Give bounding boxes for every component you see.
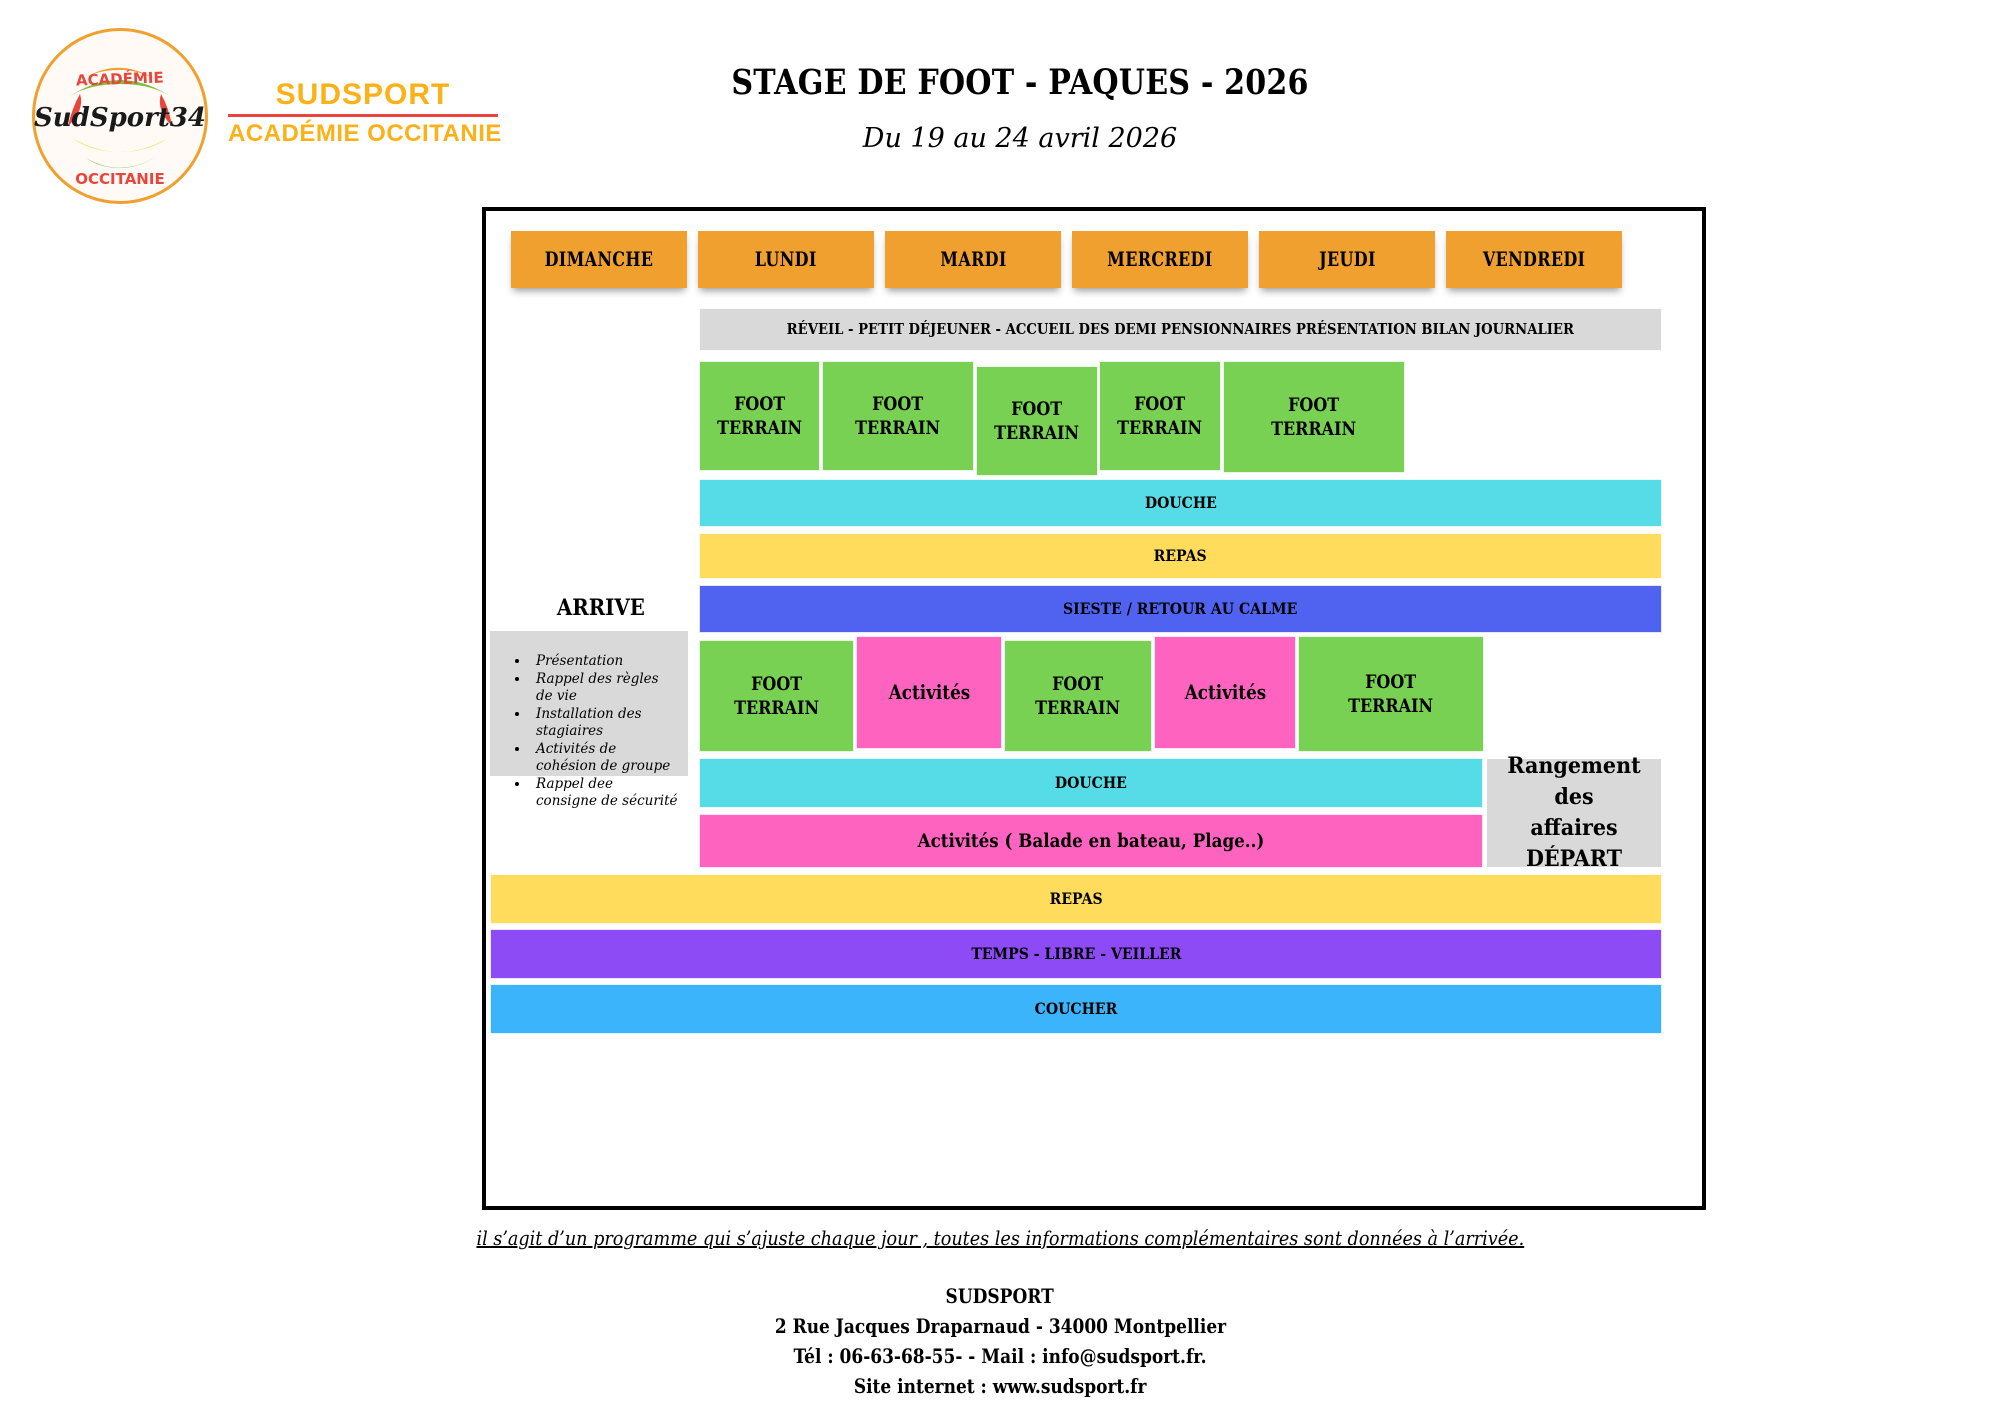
day-header-mercredi: MERCREDI	[1072, 231, 1248, 288]
footer-org-line: SUDSPORT	[400, 1282, 1600, 1312]
brand-name: SUDSPORT	[228, 78, 498, 112]
programme-note-text: il s’agit d’un programme qui s’ajuste ch…	[476, 1226, 1524, 1250]
activity-label: FOOT TERRAIN	[1035, 672, 1120, 721]
arrive-label: ARRIVE	[511, 595, 691, 621]
douche-label: DOUCHE	[1145, 493, 1217, 513]
activites-long-label: Activités ( Balade en bateau, Plage..)	[918, 829, 1265, 853]
row-douche-soir: DOUCHE	[699, 758, 1483, 808]
repas-label: REPAS	[1049, 889, 1102, 909]
footer-website[interactable]: Site internet : www.sudsport.fr	[854, 1372, 1147, 1400]
footer-website-line: Site internet : www.sudsport.fr	[400, 1372, 1600, 1402]
douche-label: DOUCHE	[1055, 773, 1127, 793]
day-label: VENDREDI	[1483, 247, 1586, 273]
sieste-label: SIESTE / RETOUR AU CALME	[1063, 599, 1297, 619]
afternoon-activites-mardi: Activités	[856, 636, 1002, 749]
day-header-mardi: MARDI	[885, 231, 1061, 288]
day-label: MARDI	[940, 247, 1006, 273]
temps-libre-label: TEMPS - LIBRE - VEILLER	[971, 944, 1181, 964]
activity-label: Activités	[1184, 680, 1265, 706]
sudsport34-logo-icon: ACADÉMIE SudSport34 OCCITANIE	[30, 26, 210, 206]
rangement-label: Rangement des affaires DÉPART	[1492, 751, 1656, 876]
coucher-label: COUCHER	[1035, 999, 1118, 1019]
contact-footer: SUDSPORT 2 Rue Jacques Draparnaud - 3400…	[400, 1282, 1600, 1402]
arrivee-details-box: Présentation Rappel des règles de vie In…	[490, 631, 688, 776]
morning-foot-terrain-mardi: FOOT TERRAIN	[822, 361, 974, 471]
activity-label: FOOT TERRAIN	[717, 392, 802, 441]
day-header-jeudi: JEUDI	[1259, 231, 1435, 288]
row-repas-midi: REPAS	[699, 533, 1662, 579]
morning-foot-terrain-jeudi: FOOT TERRAIN	[1099, 361, 1221, 471]
programme-note: il s’agit d’un programme qui s’ajuste ch…	[300, 1226, 1700, 1250]
logo-center-text: SudSport34	[34, 103, 206, 133]
footer-contact-line: Tél : 06-63-68-55- - Mail : info@sudspor…	[400, 1342, 1600, 1372]
repas-label: REPAS	[1154, 546, 1207, 566]
brand-divider	[228, 114, 498, 117]
page-title: STAGE DE FOOT - PAQUES - 2026	[573, 60, 1467, 106]
afternoon-activites-jeudi: Activités	[1154, 636, 1296, 749]
row-coucher: COUCHER	[490, 984, 1662, 1034]
afternoon-foot-terrain-vendredi: FOOT TERRAIN	[1298, 636, 1484, 752]
row-sieste: SIESTE / RETOUR AU CALME	[699, 585, 1662, 633]
title-block: STAGE DE FOOT - PAQUES - 2026 Du 19 au 2…	[500, 60, 1540, 156]
activity-label: FOOT TERRAIN	[855, 392, 940, 441]
day-label: MERCREDI	[1107, 247, 1212, 273]
afternoon-foot-terrain-lundi: FOOT TERRAIN	[699, 640, 854, 752]
footer-org: SUDSPORT	[946, 1282, 1054, 1310]
day-label: DIMANCHE	[545, 247, 654, 273]
day-label: LUNDI	[755, 247, 817, 273]
arrivee-bullet-list: Présentation Rappel des règles de vie In…	[500, 653, 678, 810]
list-item: Installation des stagiaires	[530, 706, 678, 740]
page-header: ACADÉMIE SudSport34 OCCITANIE SUDSPORT A…	[0, 0, 2000, 200]
schedule-frame: DIMANCHE LUNDI MARDI MERCREDI JEUDI VEND…	[482, 207, 1706, 1210]
activity-label: FOOT TERRAIN	[994, 397, 1079, 446]
morning-foot-terrain-mercredi: FOOT TERRAIN	[976, 366, 1098, 476]
row-activites-sortie: Activités ( Balade en bateau, Plage..)	[699, 814, 1483, 868]
activity-label: FOOT TERRAIN	[734, 672, 819, 721]
footer-address: 2 Rue Jacques Draparnaud - 34000 Montpel…	[774, 1312, 1225, 1340]
brand-block: SUDSPORT ACADÉMIE OCCITANIE	[228, 78, 498, 148]
morning-foot-terrain-vendredi: FOOT TERRAIN	[1223, 361, 1405, 473]
activity-label: Activités	[888, 680, 969, 706]
activity-label: FOOT TERRAIN	[1117, 392, 1202, 441]
list-item: Présentation	[530, 653, 678, 670]
day-label: JEUDI	[1319, 247, 1376, 273]
morning-foot-terrain-lundi: FOOT TERRAIN	[699, 361, 820, 471]
day-header-lundi: LUNDI	[698, 231, 874, 288]
page-subtitle: Du 19 au 24 avril 2026	[500, 122, 1540, 156]
brand-subtitle: ACADÉMIE OCCITANIE	[228, 120, 498, 148]
afternoon-foot-terrain-mercredi: FOOT TERRAIN	[1004, 640, 1152, 752]
footer-address-line: 2 Rue Jacques Draparnaud - 34000 Montpel…	[400, 1312, 1600, 1342]
logo-top-text: ACADÉMIE	[76, 67, 164, 89]
list-item: Rappel des règles de vie	[530, 671, 678, 705]
row-reveil-banner: RÉVEIL - PETIT DÉJEUNER - ACCUEIL DES DE…	[699, 308, 1662, 351]
reveil-banner-label: RÉVEIL - PETIT DÉJEUNER - ACCUEIL DES DE…	[787, 320, 1574, 339]
arrive-text: ARRIVE	[557, 595, 645, 621]
day-header-dimanche: DIMANCHE	[511, 231, 687, 288]
list-item: Activités de cohésion de groupe	[530, 741, 678, 775]
logo-bottom-text: OCCITANIE	[75, 170, 164, 188]
day-header-vendredi: VENDREDI	[1446, 231, 1622, 288]
row-douche-matin: DOUCHE	[699, 479, 1662, 527]
row-repas-soir: REPAS	[490, 874, 1662, 924]
activity-label: FOOT TERRAIN	[1271, 393, 1356, 442]
activity-label: FOOT TERRAIN	[1348, 670, 1433, 719]
list-item: Rappel dee consigne de sécurité	[530, 776, 678, 810]
rangement-depart-box: Rangement des affaires DÉPART	[1486, 758, 1662, 868]
row-temps-libre: TEMPS - LIBRE - VEILLER	[490, 929, 1662, 979]
footer-contact[interactable]: Tél : 06-63-68-55- - Mail : info@sudspor…	[793, 1342, 1206, 1370]
